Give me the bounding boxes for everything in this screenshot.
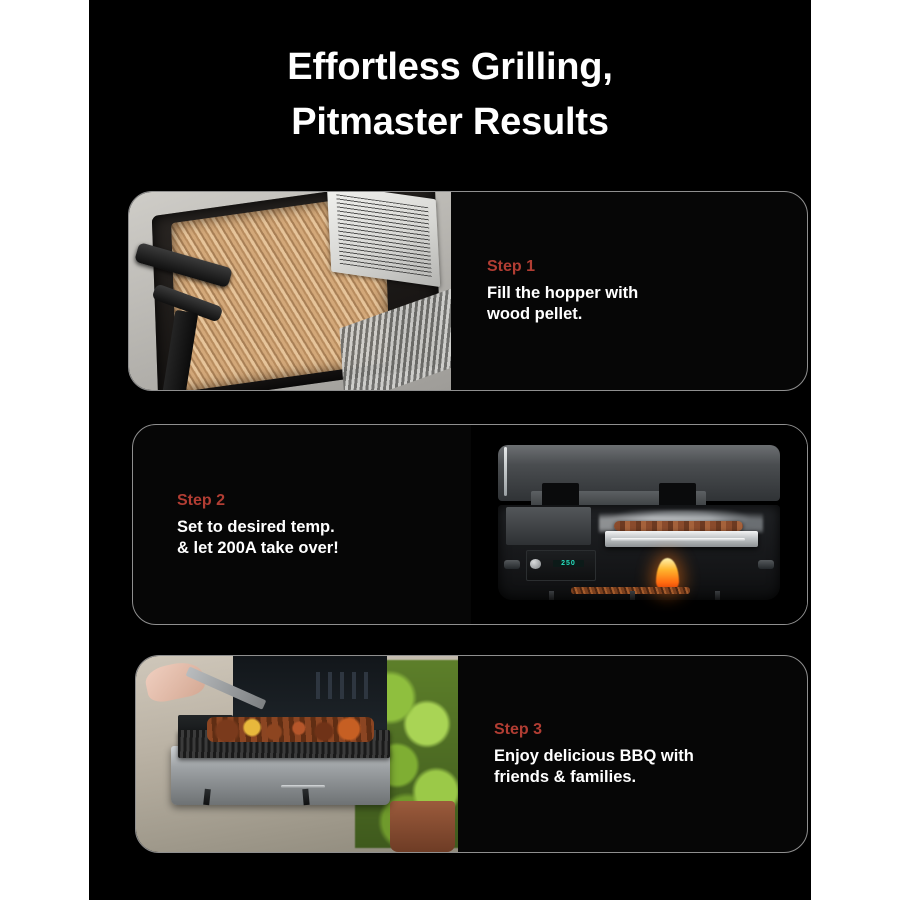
grill-leg-right-shape	[302, 788, 309, 805]
cook-hand-shape	[143, 658, 207, 705]
pellet-scene	[129, 192, 451, 390]
step-card-2-body: Step 2 Set to desired temp. & let 200A t…	[133, 425, 471, 624]
step-card-2[interactable]: 250	[132, 424, 808, 625]
temperature-display: 250	[553, 560, 584, 567]
grill-legs-group	[520, 591, 757, 601]
content-panel: Effortless Grilling, Pitmaster Results S…	[89, 0, 811, 900]
cooking-meat-shape	[614, 521, 744, 532]
grill-cutaway-scene: 250	[471, 425, 807, 624]
step-card-1-body: Step 1 Fill the hopper with wood pellet.	[451, 192, 807, 390]
warning-label-shape	[326, 192, 440, 287]
grilled-food-shape	[207, 717, 374, 742]
wood-pellet-hopper-photo	[129, 192, 451, 390]
pellet-hopper-shape	[506, 507, 591, 545]
step-description-1: Fill the hopper with wood pellet.	[487, 283, 777, 325]
grill-body-shape: 250	[498, 505, 780, 601]
flame-icon	[656, 558, 679, 590]
bbq-scene	[136, 656, 458, 852]
step-card-3[interactable]: Step 3 Enjoy delicious BBQ with friends …	[135, 655, 808, 853]
control-knob-icon	[530, 559, 541, 569]
step-card-1[interactable]: Step 1 Fill the hopper with wood pellet.	[128, 191, 808, 391]
headline-line-2: Pitmaster Results	[89, 95, 811, 150]
step-label-2: Step 2	[177, 491, 451, 511]
step-label-3: Step 3	[494, 720, 781, 740]
headline-line-1: Effortless Grilling,	[89, 40, 811, 95]
page-root: Effortless Grilling, Pitmaster Results S…	[0, 0, 900, 900]
right-handle-shape	[758, 560, 775, 569]
page-title: Effortless Grilling, Pitmaster Results	[89, 40, 811, 150]
left-handle-shape	[504, 560, 521, 569]
grill-leg-left-shape	[203, 788, 210, 805]
flower-pot-shape	[390, 801, 454, 852]
step-description-2: Set to desired temp. & let 200A take ove…	[177, 517, 451, 559]
step-description-3: Enjoy delicious BBQ with friends & famil…	[494, 746, 781, 788]
step-card-3-body: Step 3 Enjoy delicious BBQ with friends …	[458, 656, 807, 852]
step-label-1: Step 1	[487, 257, 777, 277]
heat-deflector-shape	[605, 531, 757, 546]
grill-drawer-handle-shape	[281, 785, 325, 788]
bbq-grilling-photo	[136, 656, 458, 852]
control-panel-shape: 250	[526, 550, 596, 581]
grill-cutaway-illustration: 250	[471, 425, 807, 624]
